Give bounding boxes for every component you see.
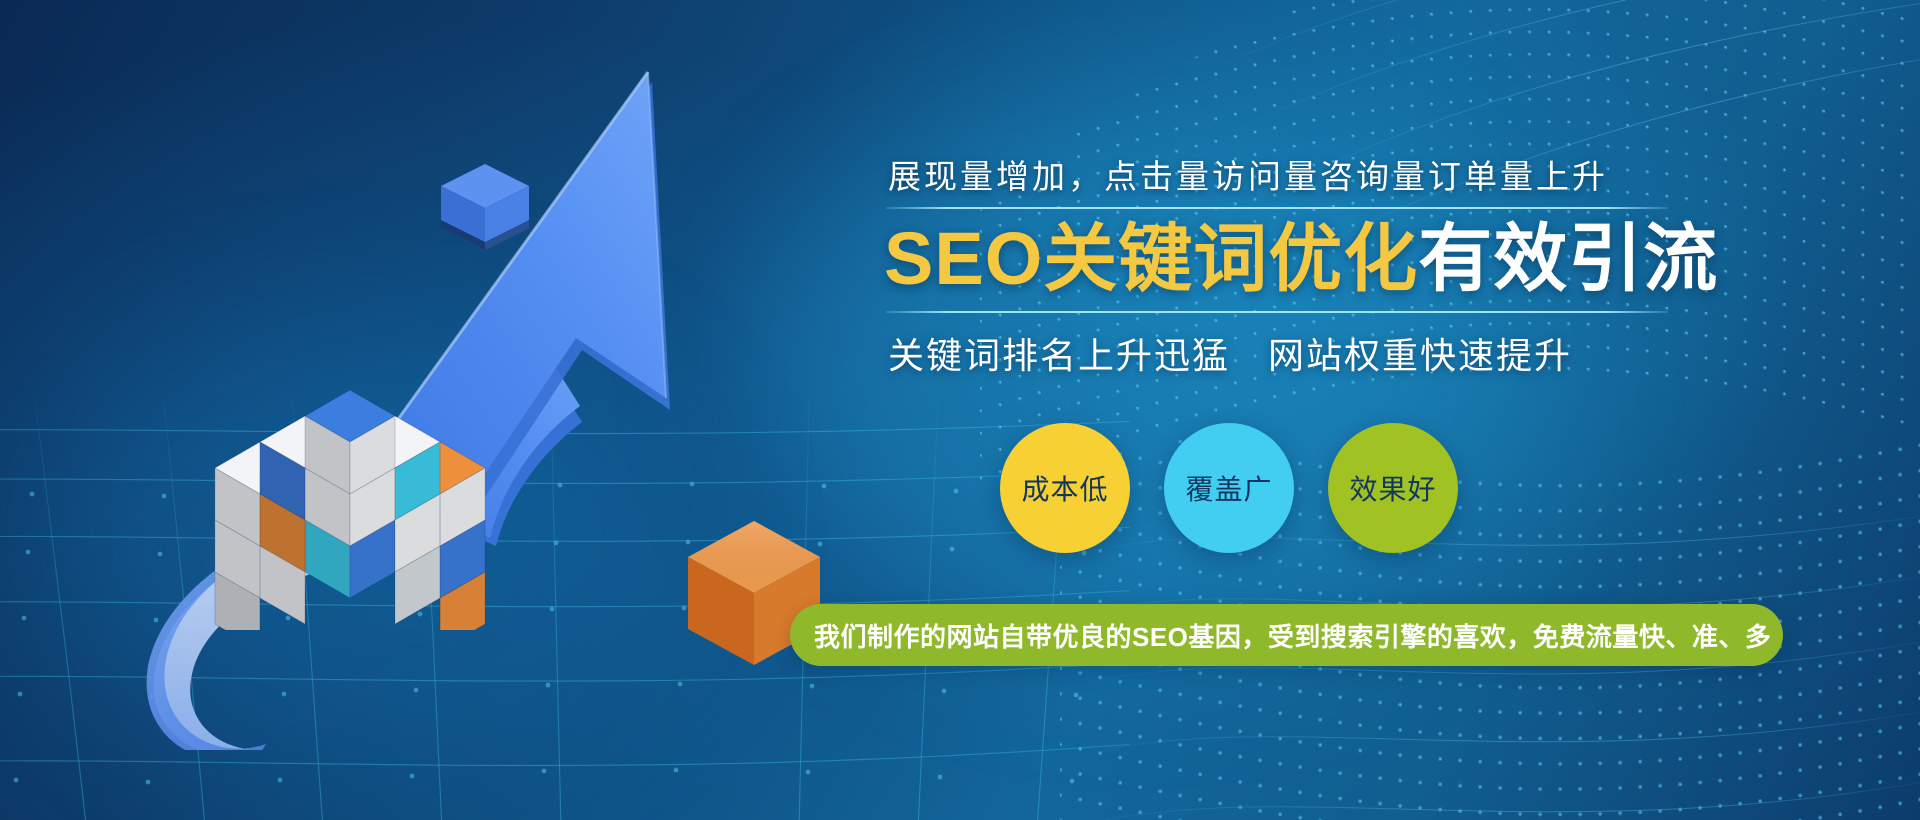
- rubiks-cube-icon: [140, 270, 560, 630]
- headline-rest: 有效引流: [1418, 217, 1718, 300]
- seo-promo-banner: 展现量增加，点击量访问量咨询量订单量上升 SEO关键词优化有效引流 关键词排名上…: [0, 0, 1920, 820]
- badge-effect-label: 效果好: [1349, 468, 1436, 508]
- badge-coverage[interactable]: 覆盖广: [1164, 423, 1294, 553]
- subtitle-text: 关键词排名上升迅猛 网站权重快速提升: [880, 327, 1780, 379]
- footer-strip-label: 我们制作的网站自带优良的SEO基因，受到搜索引擎的喜欢，免费流量快、准、多: [814, 617, 1771, 654]
- divider-bottom: [886, 311, 1668, 313]
- headline-highlight: SEO关键词优化: [884, 217, 1418, 300]
- page-title: SEO关键词优化有效引流: [880, 219, 1780, 299]
- badge-cost-label: 成本低: [1021, 468, 1108, 508]
- badge-group: 成本低 覆盖广 效果好: [1000, 423, 1458, 553]
- headline-block: 展现量增加，点击量访问量咨询量订单量上升 SEO关键词优化有效引流 关键词排名上…: [880, 160, 1780, 379]
- blue-cube-icon: [435, 160, 535, 255]
- badge-effect[interactable]: 效果好: [1328, 423, 1458, 553]
- kicker-text: 展现量增加，点击量访问量咨询量订单量上升: [880, 160, 1780, 193]
- divider-top: [886, 207, 1668, 209]
- badge-coverage-label: 覆盖广: [1185, 468, 1272, 508]
- badge-cost[interactable]: 成本低: [1000, 423, 1130, 553]
- footer-strip: 我们制作的网站自带优良的SEO基因，受到搜索引擎的喜欢，免费流量快、准、多: [790, 604, 1783, 666]
